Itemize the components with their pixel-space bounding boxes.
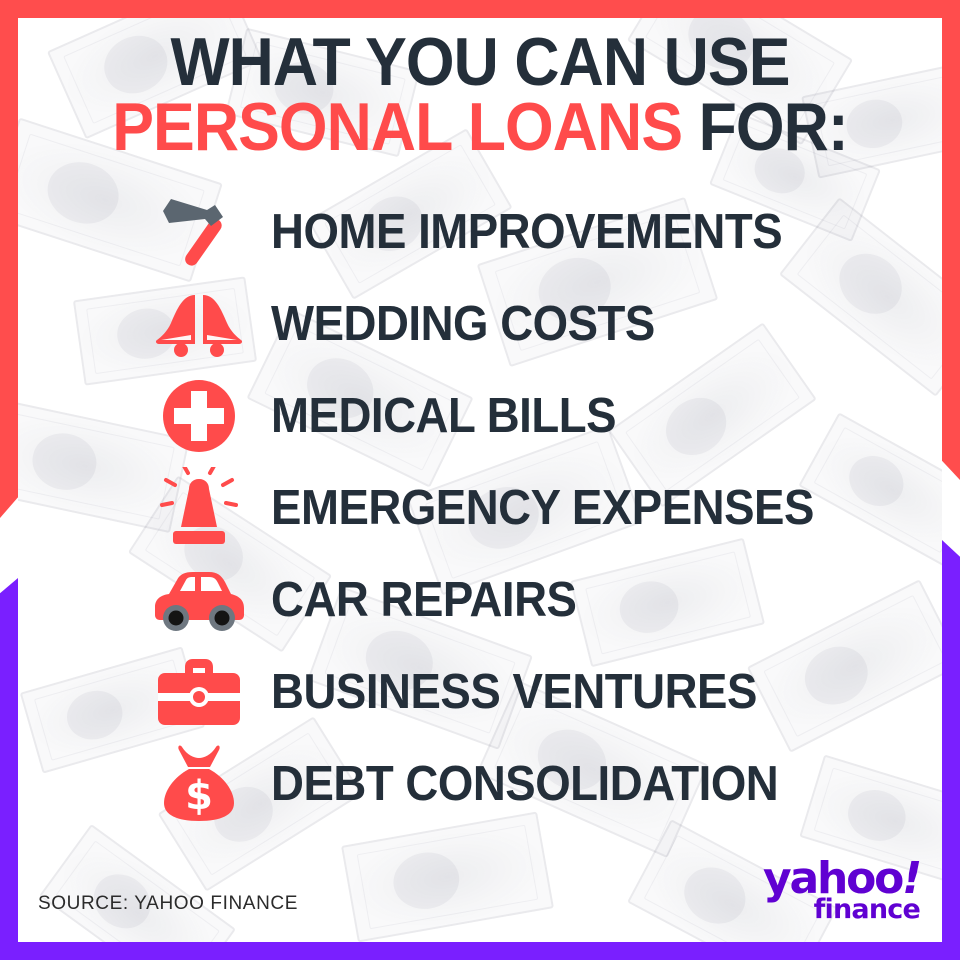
yahoo-finance-logo: yahoo! finance	[763, 860, 920, 922]
list-item: CAR REPAIRS	[140, 554, 880, 646]
frame-right-red	[942, 0, 960, 480]
title-highlight: PERSONAL LOANS	[112, 89, 682, 165]
list-item: WEDDING COSTS	[140, 278, 880, 370]
list-item-label: CAR REPAIRS	[258, 572, 576, 628]
title-suffix: FOR:	[682, 89, 848, 165]
siren-light-icon	[140, 462, 258, 554]
frame-right-purple	[942, 540, 960, 960]
title-line-1: WHAT YOU CAN USE	[55, 30, 905, 95]
car-icon	[140, 554, 258, 646]
list-item: MEDICAL BILLS	[140, 370, 880, 462]
page-title: WHAT YOU CAN USE PERSONAL LOANS FOR:	[18, 30, 942, 161]
yahoo-wordmark: yahoo!	[763, 860, 920, 897]
briefcase-icon	[140, 646, 258, 738]
wedding-bells-icon	[140, 278, 258, 370]
money-bag-icon: $	[140, 738, 258, 830]
list-item-label: HOME IMPROVEMENTS	[258, 204, 782, 260]
frame-left-red	[0, 0, 18, 518]
frame-top-red	[0, 0, 960, 18]
title-line-2: PERSONAL LOANS FOR:	[55, 95, 905, 160]
source-attribution: SOURCE: YAHOO FINANCE	[38, 893, 298, 915]
frame-left-purple	[0, 578, 18, 960]
list-item-label: DEBT CONSOLIDATION	[258, 756, 778, 812]
list-item-label: BUSINESS VENTURES	[258, 664, 757, 720]
list-item-label: WEDDING COSTS	[258, 296, 655, 352]
list-item-label: EMERGENCY EXPENSES	[258, 480, 814, 536]
svg-text:$: $	[185, 773, 213, 819]
list-item: EMERGENCY EXPENSES	[140, 462, 880, 554]
list-item-label: MEDICAL BILLS	[258, 388, 616, 444]
frame-bottom-purple	[0, 942, 960, 960]
list-item: HOME IMPROVEMENTS	[140, 186, 880, 278]
infographic-poster: WHAT YOU CAN USE PERSONAL LOANS FOR: HOM…	[0, 0, 960, 960]
list-item: BUSINESS VENTURES	[140, 646, 880, 738]
use-case-list: HOME IMPROVEMENTS WEDDING COSTS	[140, 186, 880, 830]
list-item: $ DEBT CONSOLIDATION	[140, 738, 880, 830]
hammer-icon	[140, 186, 258, 278]
medical-cross-icon	[140, 370, 258, 462]
